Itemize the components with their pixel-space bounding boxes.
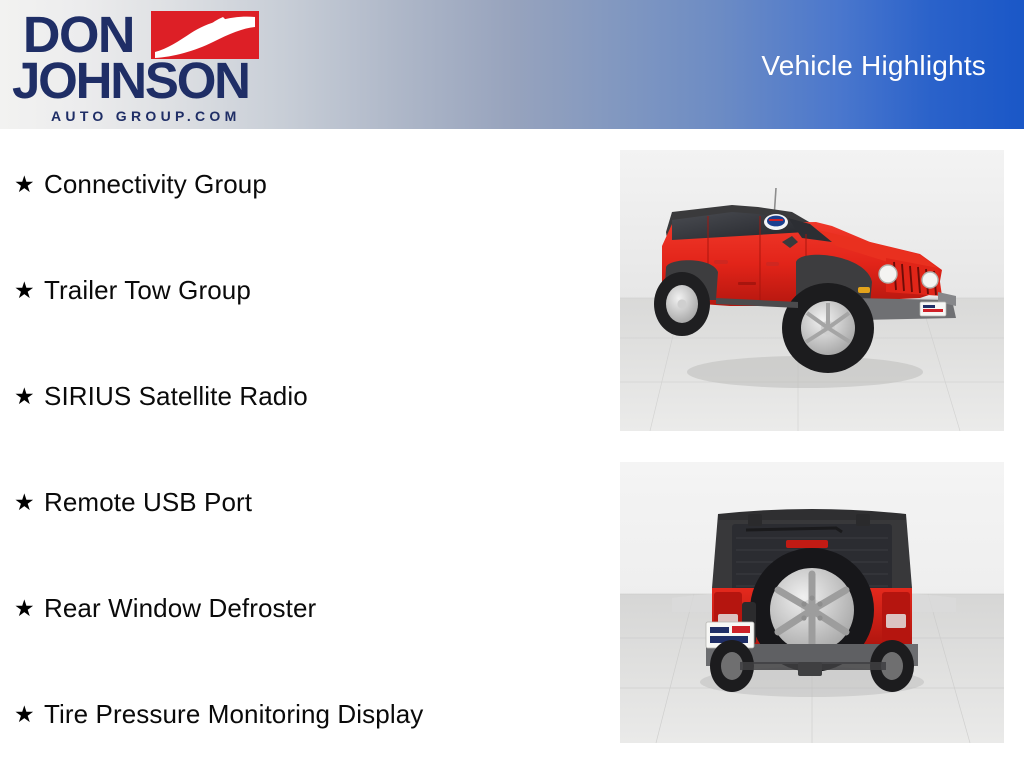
logo-text-johnson: JOHNSON <box>12 56 249 106</box>
page-title: Vehicle Highlights <box>761 50 986 82</box>
vehicle-highlights-list: ★ Connectivity Group ★ Trailer Tow Group… <box>0 129 600 768</box>
page-header: DON JOHNSON AUTO GROUP.COM Vehicle Highl… <box>0 0 1024 129</box>
dealer-logo[interactable]: DON JOHNSON AUTO GROUP.COM <box>12 6 260 126</box>
list-item-label: Tire Pressure Monitoring Display <box>44 699 423 729</box>
list-item: ★ Connectivity Group <box>14 167 267 201</box>
list-item: ★ Trailer Tow Group <box>14 273 251 307</box>
star-icon: ★ <box>14 385 44 408</box>
star-icon: ★ <box>14 279 44 302</box>
list-item: ★ SIRIUS Satellite Radio <box>14 379 308 413</box>
list-item-label: Remote USB Port <box>44 487 252 517</box>
slide-root: DON JOHNSON AUTO GROUP.COM Vehicle Highl… <box>0 0 1024 768</box>
list-item: ★ Rear Window Defroster <box>14 591 316 625</box>
list-item-label: Rear Window Defroster <box>44 593 316 623</box>
list-item-label: Connectivity Group <box>44 169 267 199</box>
vehicle-photo-rear[interactable] <box>620 462 1004 743</box>
star-icon: ★ <box>14 703 44 726</box>
list-item-label: SIRIUS Satellite Radio <box>44 381 308 411</box>
list-item-label: Trailer Tow Group <box>44 275 251 305</box>
star-icon: ★ <box>14 491 44 514</box>
list-item: ★ Tire Pressure Monitoring Display <box>14 697 423 731</box>
star-icon: ★ <box>14 173 44 196</box>
vehicle-photo-front-quarter[interactable] <box>620 150 1004 431</box>
list-item: ★ Remote USB Port <box>14 485 252 519</box>
logo-tagline: AUTO GROUP.COM <box>51 109 241 123</box>
swoosh-icon <box>151 11 259 59</box>
star-icon: ★ <box>14 597 44 620</box>
